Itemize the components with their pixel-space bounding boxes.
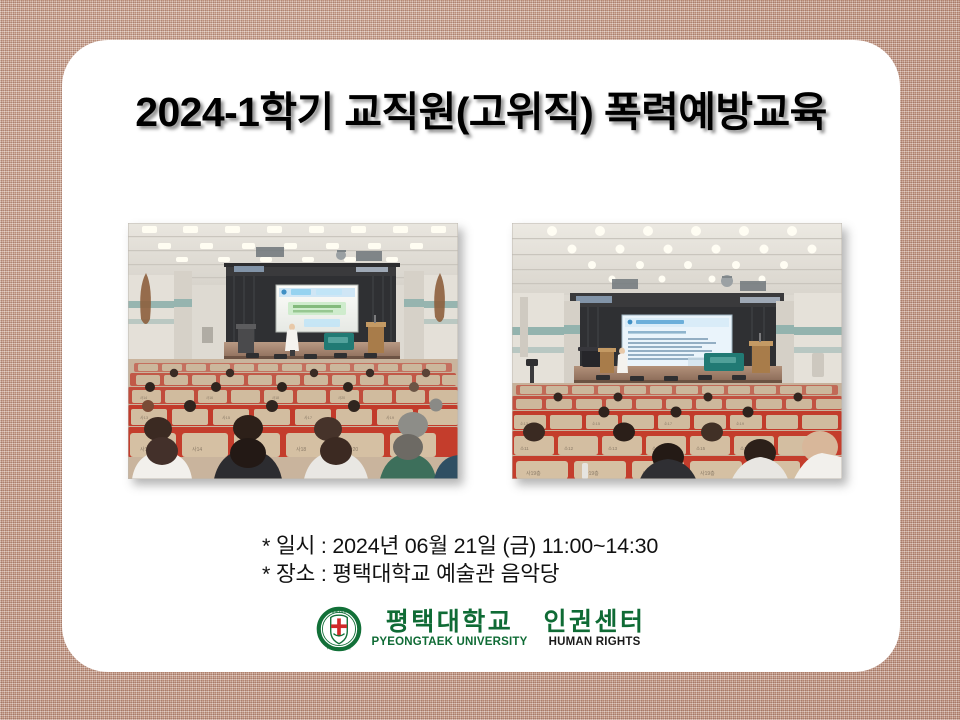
svg-text:사14: 사14 <box>192 446 202 453</box>
svg-text:소19: 소19 <box>736 421 745 426</box>
svg-text:소13: 소13 <box>608 446 618 451</box>
event-location: * 장소 : 평택대학교 예술관 음악당 <box>262 560 782 588</box>
svg-text:사15: 사15 <box>222 414 231 420</box>
auditorium-photo-right: 소13소15 소17소19 소11소12 소13소14 소1 <box>512 223 842 479</box>
event-datetime: * 일시 : 2024년 06월 21일 (금) 11:00~14:30 <box>262 532 782 560</box>
svg-text:사16: 사16 <box>206 395 213 400</box>
center-wordmark: 인권센터 HUMAN RIGHTS <box>544 609 646 649</box>
university-name-en: PYEONGTAEK UNIVERSITY <box>371 635 527 649</box>
university-wordmark: 평택대학교 PYEONGTAEK UNIVERSITY <box>371 609 527 649</box>
slide-card: 2024-1학기 교직원(고위직) 폭력예방교육 <box>62 40 900 672</box>
svg-text:평택대학교: 평택대학교 <box>332 608 347 613</box>
event-details: * 일시 : 2024년 06월 21일 (금) 11:00~14:30 * 장… <box>262 532 782 588</box>
svg-text:사17: 사17 <box>304 414 313 420</box>
logo-wordmarks: 평택대학교 PYEONGTAEK UNIVERSITY 인권센터 HUMAN R… <box>371 609 645 649</box>
page-title: 2024-1학기 교직원(고위직) 폭력예방교육 <box>62 78 900 138</box>
svg-text:소17: 소17 <box>664 421 673 426</box>
svg-text:사20: 사20 <box>338 395 345 400</box>
pyeongtaek-university-emblem-icon: 평택대학교 PYEONGTAEK UNIV. <box>316 606 362 652</box>
svg-text:사18: 사18 <box>272 395 279 400</box>
svg-text:PYEONGTAEK UNIV.: PYEONGTAEK UNIV. <box>327 648 352 651</box>
auditorium-photo-left: 사14사16 사18사20 <box>128 223 458 479</box>
svg-text:소15: 소15 <box>696 446 706 451</box>
svg-text:사19층: 사19층 <box>700 470 715 477</box>
auditorium-scene-left: 사14사16 사18사20 <box>128 223 458 479</box>
svg-text:소11: 소11 <box>520 446 529 451</box>
svg-text:사18: 사18 <box>296 446 306 453</box>
svg-text:소15: 소15 <box>592 421 601 426</box>
center-name-ko: 인권센터 <box>544 609 646 635</box>
svg-text:사14: 사14 <box>140 395 147 400</box>
svg-text:사19층: 사19층 <box>526 470 541 477</box>
center-name-en: HUMAN RIGHTS <box>549 635 641 649</box>
svg-text:사19: 사19 <box>386 414 395 420</box>
svg-text:사13: 사13 <box>140 414 149 420</box>
svg-text:소12: 소12 <box>564 446 574 451</box>
auditorium-scene-right: 소13소15 소17소19 소11소12 소13소14 소1 <box>512 223 842 479</box>
organization-logo: 평택대학교 PYEONGTAEK UNIV. 평택대학교 PYEONGTAEK … <box>62 606 900 652</box>
university-name-ko: 평택대학교 <box>386 609 514 635</box>
